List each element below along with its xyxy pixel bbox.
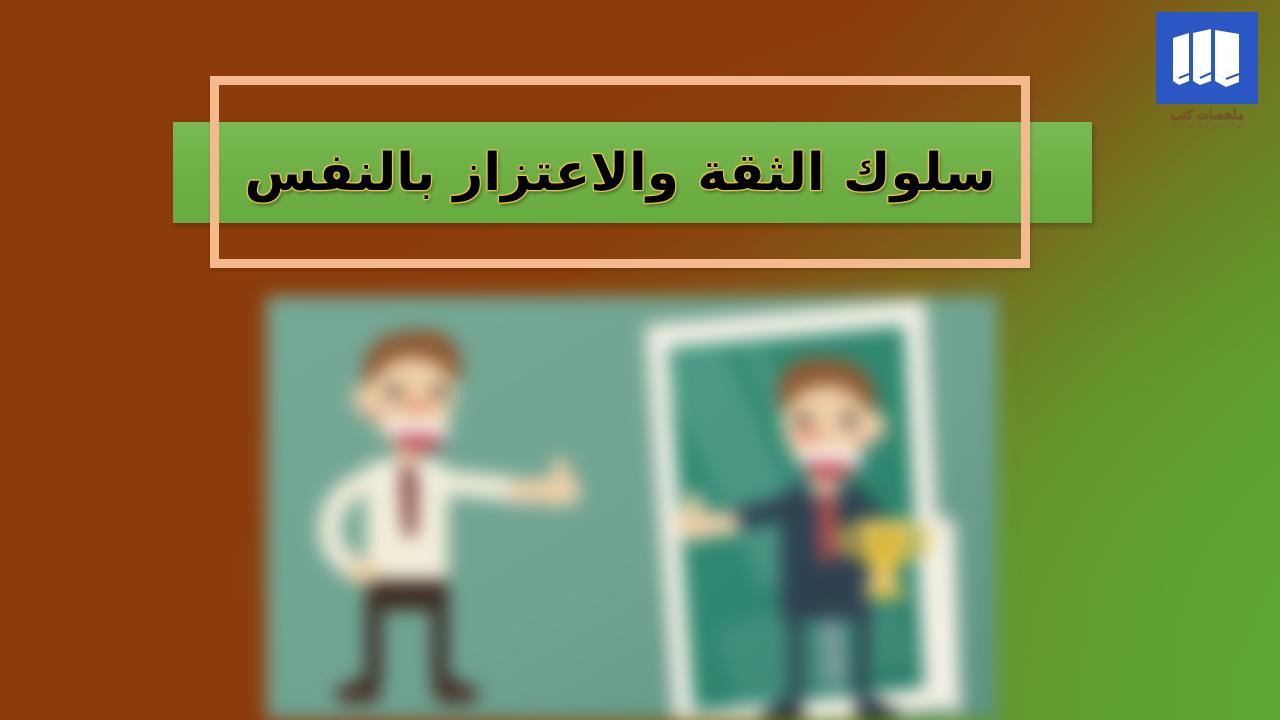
illustration-canvas: 1	[266, 296, 998, 720]
three-books-icon	[1156, 12, 1258, 104]
channel-logo: ملخصات كتب كل الكتب بين يديك في دقائق	[1149, 12, 1265, 144]
logo-title: ملخصات كتب	[1149, 108, 1265, 122]
slide-canvas: ملخصات كتب كل الكتب بين يديك في دقائق سل…	[0, 0, 1280, 720]
page-title: سلوك الثقة والاعتزاز بالنفس	[210, 122, 1030, 223]
background-brown-corner	[0, 600, 262, 720]
illustration-soft-edge: 1	[252, 282, 1012, 720]
illustration: 1	[252, 282, 1012, 720]
svg-text:1: 1	[880, 534, 889, 553]
logo-tagline: كل الكتب بين يديك في دقائق	[1149, 123, 1265, 130]
